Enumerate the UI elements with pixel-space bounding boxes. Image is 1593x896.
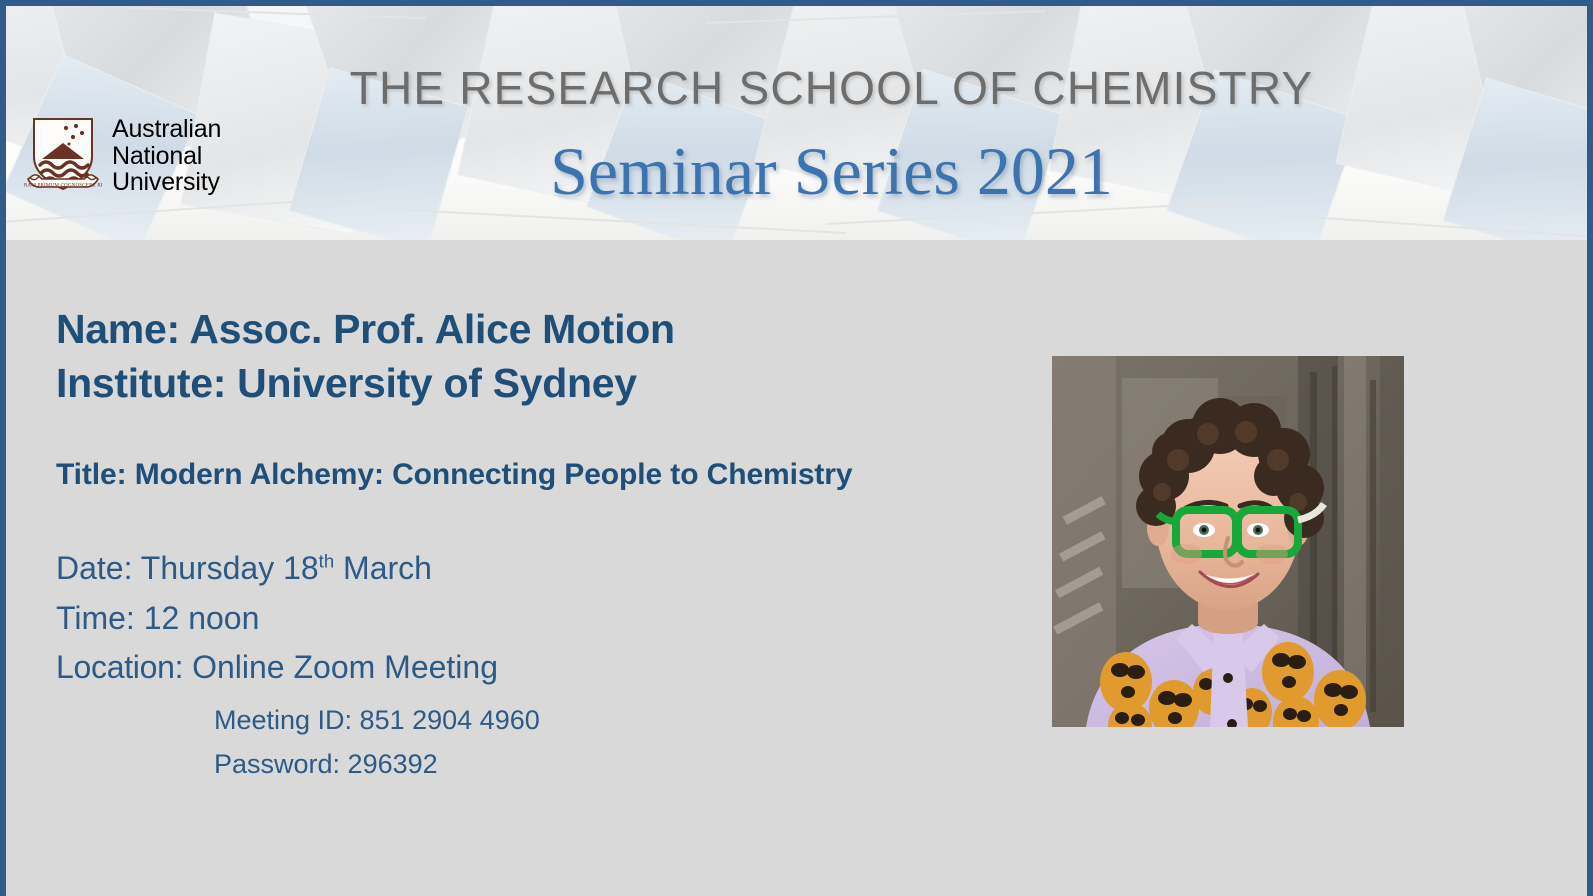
date-day: Thursday 18: [141, 550, 319, 586]
anu-wordmark-line-3: University: [112, 169, 221, 196]
location-value: Online Zoom Meeting: [183, 649, 498, 685]
anu-wordmark-line-1: Australian: [112, 116, 221, 143]
speaker-institute-line: Institute: University of Sydney: [56, 356, 996, 410]
zoom-credentials-block: Meeting ID: 851 2904 4960 Password: 2963…: [214, 699, 996, 786]
anu-wordmark: Australian National University: [112, 116, 221, 196]
flyer-body: Name: Assoc. Prof. Alice Motion Institut…: [6, 240, 1587, 896]
seminar-details-column: Name: Assoc. Prof. Alice Motion Institut…: [56, 302, 996, 786]
meeting-password-row: Password: 296392: [214, 743, 996, 787]
crest-motto-text: NATURAM PRIMUM COGNOSCERE RERUM: [24, 183, 102, 189]
header-banner: NATURAM PRIMUM COGNOSCERE RERUM Australi…: [6, 6, 1587, 240]
seminar-flyer-slide: NATURAM PRIMUM COGNOSCERE RERUM Australi…: [0, 0, 1593, 896]
time-value: 12 noon: [135, 600, 260, 636]
anu-logo: NATURAM PRIMUM COGNOSCERE RERUM Australi…: [24, 110, 264, 202]
school-heading: THE RESEARCH SCHOOL OF CHEMISTRY: [6, 61, 1587, 115]
logistics-block: Date: Thursday 18th March Time: 12 noon …: [56, 544, 996, 693]
speaker-portrait: [1052, 356, 1404, 727]
speaker-name-line: Name: Assoc. Prof. Alice Motion: [56, 302, 996, 356]
anu-crest-icon: NATURAM PRIMUM COGNOSCERE RERUM: [24, 113, 102, 199]
location-row: Location: Online Zoom Meeting: [56, 643, 996, 693]
date-ordinal: th: [319, 550, 334, 571]
date-row: Date: Thursday 18th March: [56, 544, 996, 594]
talk-title-line: Title: Modern Alchemy: Connecting People…: [56, 452, 956, 498]
anu-wordmark-line-2: National: [112, 143, 221, 170]
location-label: Location:: [56, 649, 183, 685]
meeting-id-row: Meeting ID: 851 2904 4960: [214, 699, 996, 743]
time-row: Time: 12 noon: [56, 594, 996, 644]
date-month: March: [334, 550, 432, 586]
time-label: Time:: [56, 600, 135, 636]
date-label: Date:: [56, 550, 132, 586]
